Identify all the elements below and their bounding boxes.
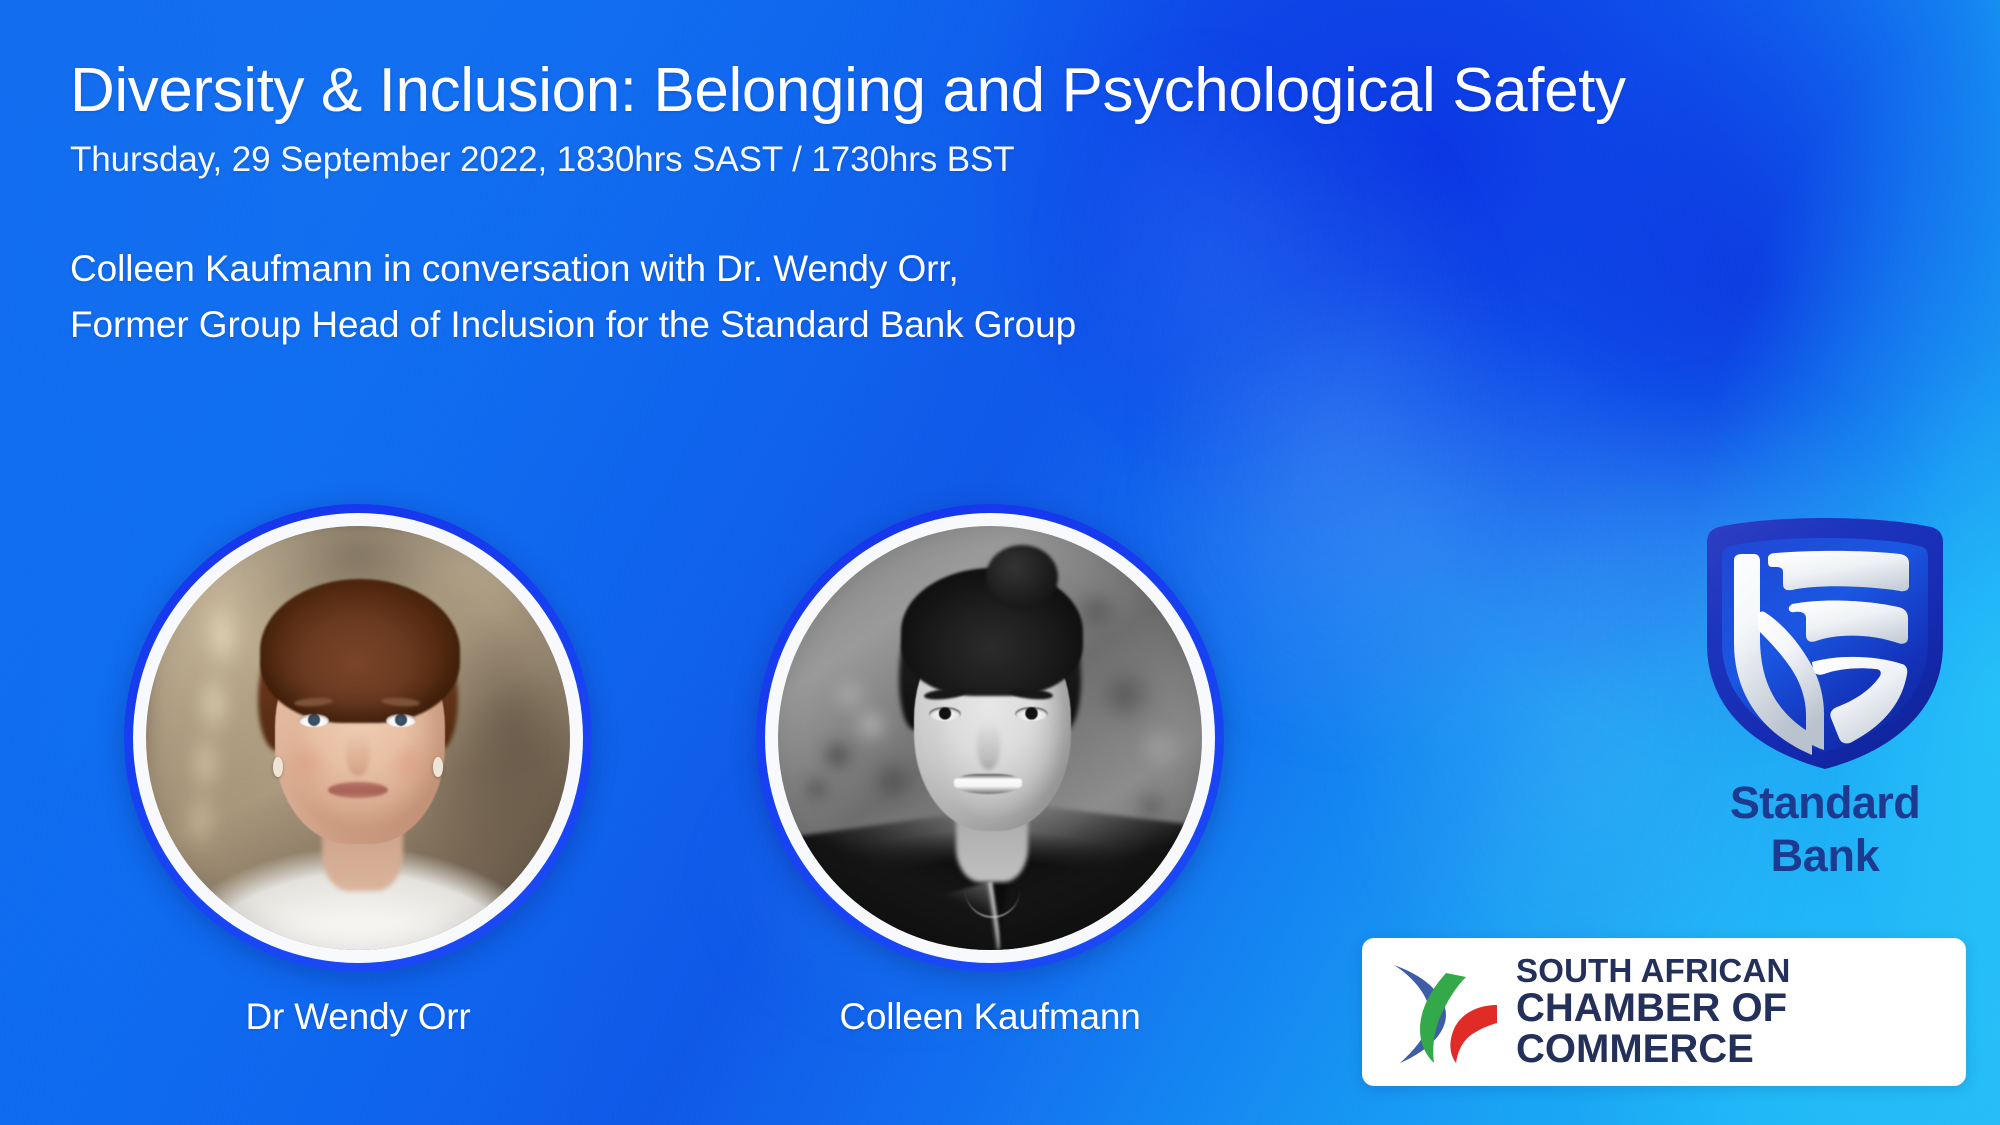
standard-bank-wordmark-line-2: Bank [1700, 833, 1950, 880]
standard-bank-shield-icon [1700, 512, 1950, 774]
event-description-line-1: Colleen Kaufmann in conversation with Dr… [70, 241, 1630, 297]
standard-bank-wordmark-line-1: Standard [1700, 780, 1950, 827]
speaker-card-1: Dr Wendy Orr [124, 504, 592, 1038]
poster-text-block: Diversity & Inclusion: Belonging and Psy… [70, 56, 1630, 352]
speaker-name-2: Colleen Kaufmann [756, 996, 1224, 1038]
sacc-wordmark: SOUTH AFRICAN CHAMBER OF COMMERCE [1516, 954, 1944, 1069]
portrait-colleen-kaufmann [778, 526, 1202, 950]
portrait-1-inner-shadow [146, 526, 570, 950]
sacc-logo-card: SOUTH AFRICAN CHAMBER OF COMMERCE [1362, 938, 1966, 1086]
standard-bank-logo: Standard Bank [1700, 512, 1950, 880]
avatar-ring-1 [124, 504, 592, 972]
avatar-photo-2 [778, 526, 1202, 950]
avatar-ring-2 [756, 504, 1224, 972]
sacc-wordmark-line-1: SOUTH AFRICAN [1516, 954, 1944, 988]
avatar-photo-1 [146, 526, 570, 950]
portrait-wendy-orr [146, 526, 570, 950]
portrait-2-inner-shadow [778, 526, 1202, 950]
sacc-wordmark-line-2: CHAMBER OF COMMERCE [1516, 988, 1944, 1070]
event-description: Colleen Kaufmann in conversation with Dr… [70, 241, 1630, 352]
sacc-three-swoosh-icon [1384, 959, 1502, 1065]
page-title: Diversity & Inclusion: Belonging and Psy… [70, 56, 1630, 125]
speaker-card-2: Colleen Kaufmann [756, 504, 1224, 1038]
event-poster: Diversity & Inclusion: Belonging and Psy… [0, 0, 2000, 1125]
event-datetime: Thursday, 29 September 2022, 1830hrs SAS… [70, 139, 1630, 181]
event-description-line-2: Former Group Head of Inclusion for the S… [70, 297, 1630, 353]
speaker-name-1: Dr Wendy Orr [124, 996, 592, 1038]
